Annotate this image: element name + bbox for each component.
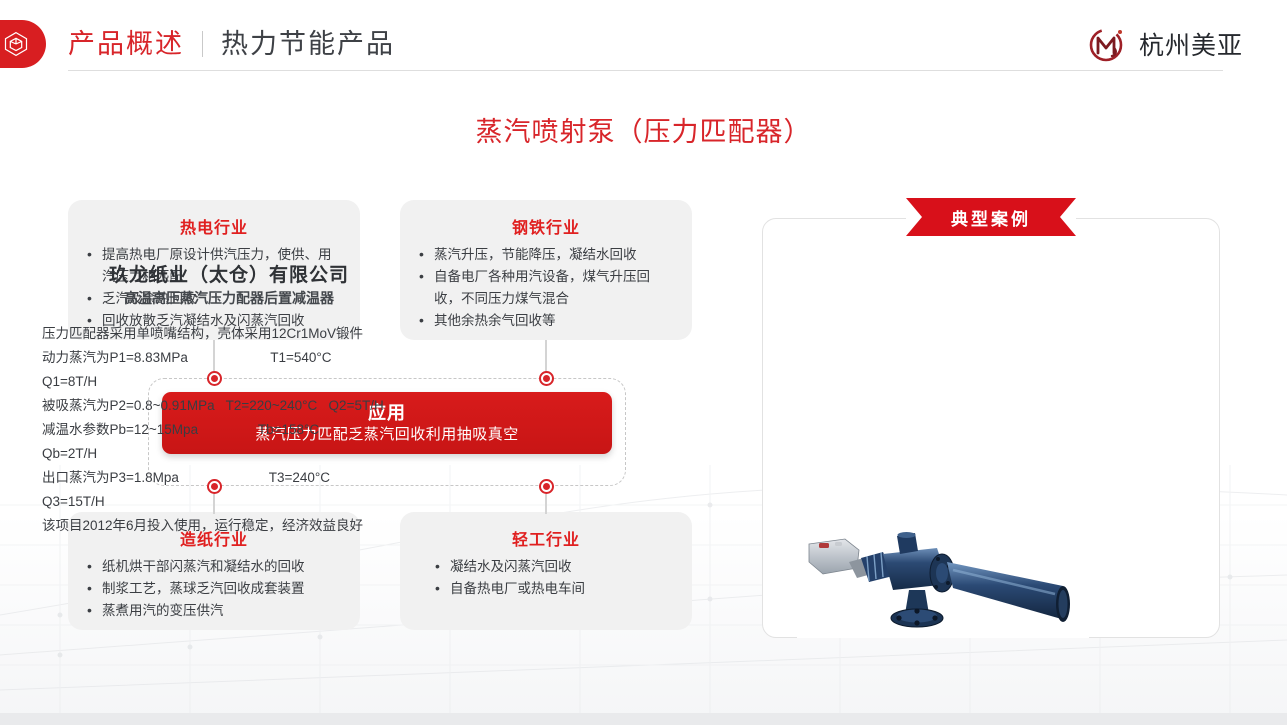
spec-line: 压力匹配器采用单喷嘴结构，壳体采用12Cr1MoV锻件 (42, 322, 442, 346)
breadcrumb-primary: 产品概述 (68, 22, 184, 61)
bottom-strip (0, 713, 1287, 725)
spec-line: 减温水参数Pb=12~15Mpa Tb=158°C (42, 418, 442, 442)
case-subtitle: 高温高压蒸汽压力配器后置减温器 (0, 288, 458, 308)
industry-bullet-list: 凝结水及闪蒸汽回收 自备热电厂或热电车间 (416, 556, 676, 600)
page-header: 产品概述 热力节能产品 杭州美亚 (0, 0, 1287, 78)
breadcrumb: 产品概述 热力节能产品 (68, 22, 395, 61)
industry-title: 轻工行业 (416, 526, 676, 550)
list-item: 蒸煮用汽的变压供汽 (84, 600, 344, 622)
list-item: 其他余热余气回收等 (416, 310, 676, 332)
spec-line: Q1=8T/H (42, 370, 442, 394)
spec-line: Q3=15T/H (42, 490, 442, 514)
industry-title: 钢铁行业 (416, 214, 676, 238)
connector-stem-top-right (545, 340, 547, 372)
cube-hexagon-icon (2, 30, 30, 58)
page-title: 蒸汽喷射泵（压力匹配器） (0, 110, 1287, 149)
brand-logo: 杭州美亚 (1085, 22, 1243, 66)
case-company-name: 玖龙纸业（太仓）有限公司 (0, 260, 458, 287)
spec-line: 出口蒸汽为P3=1.8Mpa T3=240°C (42, 466, 442, 490)
breadcrumb-secondary: 热力节能产品 (221, 22, 395, 61)
header-rule (68, 70, 1223, 71)
meiya-circle-m-logo-icon (1085, 22, 1129, 66)
typical-case-ribbon: 典型案例 (906, 198, 1076, 236)
steam-ejector-pump-photo (797, 528, 1089, 638)
connector-node-bottom-right (539, 479, 554, 494)
list-item: 制浆工艺，蒸球乏汽回收成套装置 (84, 578, 344, 600)
industry-card-light[interactable]: 轻工行业 凝结水及闪蒸汽回收 自备热电厂或热电车间 (400, 512, 692, 630)
spec-line: 被吸蒸汽为P2=0.8~0.91MPa T2=220~240°C Q2=5T/H (42, 394, 442, 418)
spec-line: 该项目2012年6月投入使用，运行稳定，经济效益良好 (42, 514, 442, 538)
industry-title: 热电行业 (84, 214, 344, 238)
spec-line: 动力蒸汽为P1=8.83MPa T1=540°C (42, 346, 442, 370)
connector-stem-bottom-right (545, 494, 547, 514)
slide-root: 产品概述 热力节能产品 杭州美亚 蒸汽喷射泵（压力匹配器） 热电行业 (0, 0, 1287, 725)
list-item: 纸机烘干部闪蒸汽和凝结水的回收 (84, 556, 344, 578)
industry-bullet-list: 纸机烘干部闪蒸汽和凝结水的回收 制浆工艺，蒸球乏汽回收成套装置 蒸煮用汽的变压供… (84, 556, 344, 622)
ribbon-label: 典型案例 (906, 198, 1076, 236)
list-item: 凝结水及闪蒸汽回收 (432, 556, 676, 578)
spec-line: Qb=2T/H (42, 442, 442, 466)
list-item: 自备热电厂或热电车间 (432, 578, 676, 600)
case-specification-block: 压力匹配器采用单喷嘴结构，壳体采用12Cr1MoV锻件 动力蒸汽为P1=8.83… (42, 322, 442, 538)
connector-node-top-right (539, 371, 554, 386)
brand-name: 杭州美亚 (1139, 26, 1243, 62)
breadcrumb-divider (202, 31, 203, 57)
header-badge (0, 20, 46, 68)
